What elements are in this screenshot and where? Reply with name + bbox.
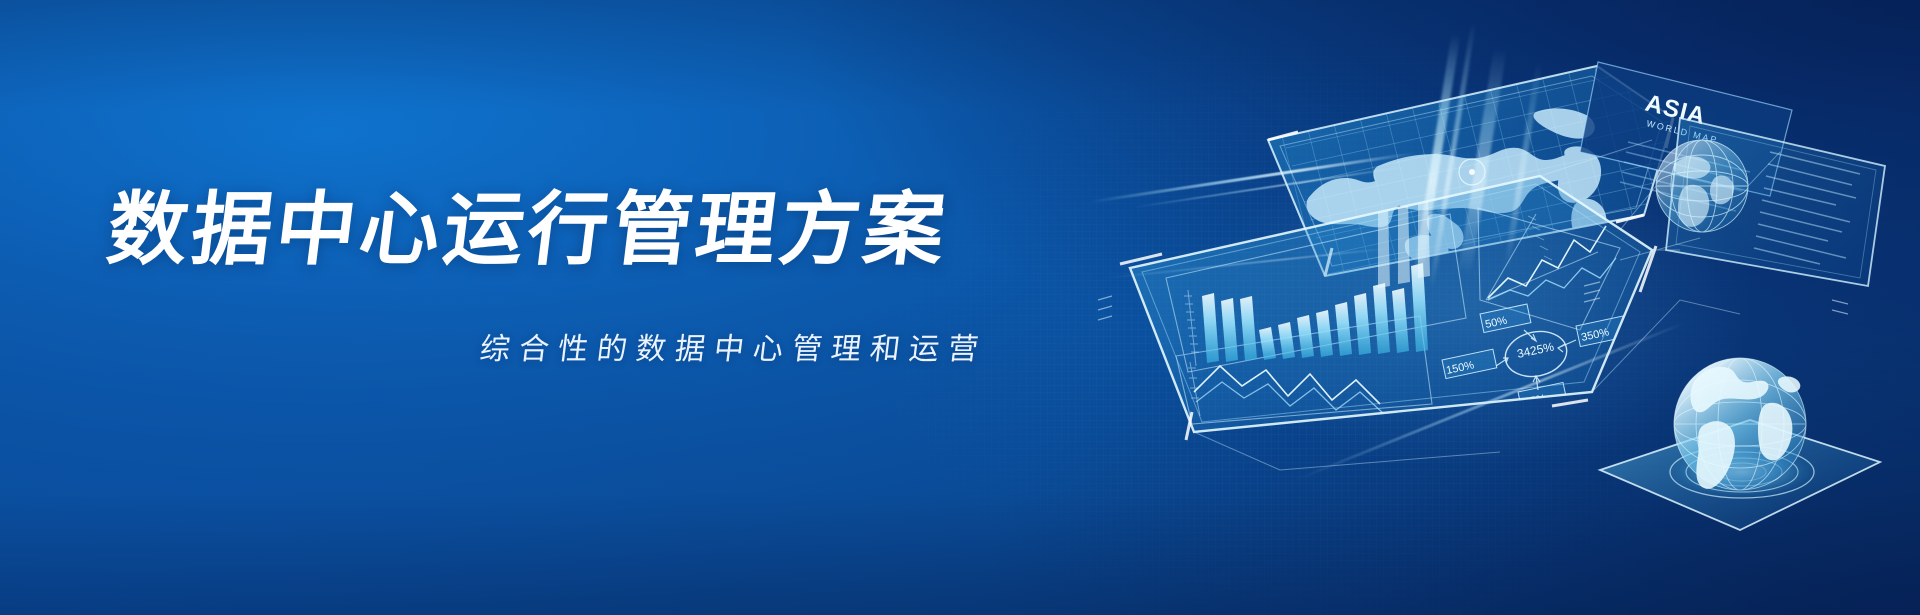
banner-text-block: 数据中心运行管理方案 综合性的数据中心管理和运营 — [0, 0, 1060, 615]
hologram-svg: ASIA WORLD MAP — [980, 0, 1920, 615]
hologram-illustration: ASIA WORLD MAP — [980, 0, 1920, 615]
dashboard-panel: 3425% 50% 150% 350% 25% — [1120, 176, 1656, 440]
map-focus-dot — [1469, 169, 1475, 175]
page-title: 数据中心运行管理方案 — [103, 188, 953, 273]
hero-banner: 数据中心运行管理方案 综合性的数据中心管理和运营 — [0, 0, 1920, 615]
page-subtitle: 综合性的数据中心管理和运营 — [478, 332, 989, 368]
globe-hologram-assembly — [1600, 358, 1880, 530]
